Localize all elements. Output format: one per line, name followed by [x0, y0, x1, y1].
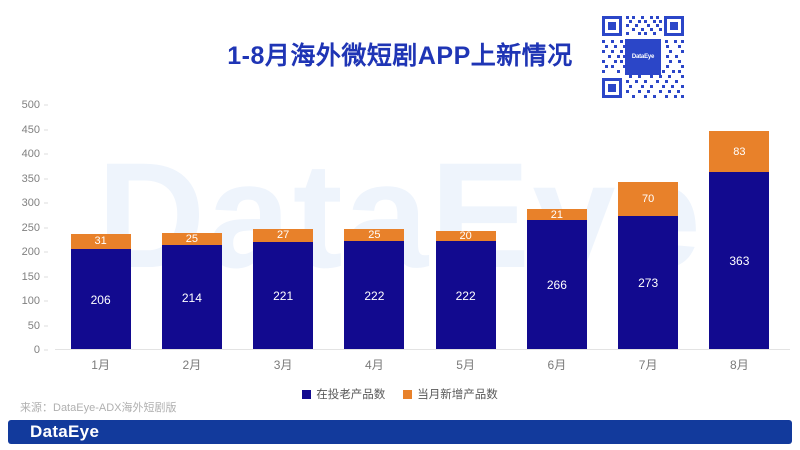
y-tick-mark	[44, 252, 48, 253]
y-tick-mark	[44, 203, 48, 204]
y-tick-mark	[44, 325, 48, 326]
bar-value-label: 221	[273, 289, 293, 303]
brand-logo: DataEye	[30, 422, 99, 442]
bar-segment-base[interactable]: 363	[709, 172, 769, 350]
legend-swatch	[403, 390, 412, 399]
bar-segment-base[interactable]: 221	[253, 242, 313, 350]
x-tick-label: 2月	[162, 356, 222, 373]
bar-value-label: 83	[733, 146, 745, 158]
bar-segment-top[interactable]: 83	[709, 131, 769, 172]
bar-group[interactable]: 26621	[527, 209, 587, 350]
source-note: 来源：DataEye-ADX海外短剧版	[20, 399, 176, 415]
legend-label: 当月新增产品数	[417, 386, 498, 402]
x-axis-baseline	[55, 349, 790, 350]
y-tick-mark	[44, 178, 48, 179]
y-tick-mark	[44, 154, 48, 155]
y-tick-label: 350	[22, 173, 40, 185]
x-tick-label: 6月	[527, 356, 587, 373]
bar-value-label: 27	[277, 229, 289, 241]
bar-value-label: 222	[456, 289, 476, 303]
bar-group[interactable]: 20631	[71, 234, 131, 350]
bar-segment-base[interactable]: 206	[71, 249, 131, 350]
bar-segment-base[interactable]: 214	[162, 245, 222, 350]
bar-segment-top[interactable]: 25	[162, 233, 222, 245]
y-tick-mark	[44, 227, 48, 228]
y-tick-mark	[44, 350, 48, 351]
bar-segment-top[interactable]: 25	[344, 229, 404, 241]
bar-value-label: 70	[642, 193, 654, 205]
legend-label: 在投老产品数	[316, 386, 385, 402]
bar-group[interactable]: 36383	[709, 131, 769, 350]
x-tick-label: 4月	[344, 356, 404, 373]
y-tick-label: 250	[22, 222, 40, 234]
footer-bar: DataEye	[8, 420, 792, 444]
y-tick-label: 200	[22, 246, 40, 258]
bar-group[interactable]: 21425	[162, 233, 222, 350]
bar-segment-top[interactable]: 21	[527, 209, 587, 219]
y-tick-mark	[44, 129, 48, 130]
bar-group[interactable]: 22225	[344, 229, 404, 350]
x-tick-label: 3月	[253, 356, 313, 373]
bar-segment-base[interactable]: 266	[527, 220, 587, 350]
y-tick-label: 400	[22, 148, 40, 160]
y-tick-label: 50	[28, 320, 40, 332]
x-axis: 1月2月3月4月5月6月7月8月	[55, 356, 785, 376]
bar-segment-base[interactable]: 273	[618, 216, 678, 350]
x-tick-label: 8月	[709, 356, 769, 373]
bar-value-label: 25	[368, 229, 380, 241]
y-tick-label: 0	[34, 344, 40, 356]
bar-value-label: 31	[95, 235, 107, 247]
bar-value-label: 21	[551, 209, 563, 221]
bar-segment-top[interactable]: 27	[253, 229, 313, 242]
y-tick-label: 450	[22, 124, 40, 136]
bar-value-label: 363	[729, 254, 749, 268]
x-tick-label: 5月	[436, 356, 496, 373]
y-tick-label: 150	[22, 271, 40, 283]
y-tick-mark	[44, 105, 48, 106]
bar-segment-top[interactable]: 70	[618, 182, 678, 216]
qr-center-logo: DataEye	[625, 39, 661, 75]
bar-value-label: 25	[186, 233, 198, 245]
y-axis: 050100150200250300350400450500	[0, 98, 48, 358]
bar-segment-top[interactable]: 31	[71, 234, 131, 249]
bar-group[interactable]: 27370	[618, 182, 678, 350]
qr-code[interactable]: DataEye	[598, 12, 688, 102]
legend-item[interactable]: 在投老产品数	[302, 386, 385, 402]
bar-segment-top[interactable]: 20	[436, 231, 496, 241]
bar-value-label: 20	[460, 230, 472, 242]
legend-item[interactable]: 当月新增产品数	[403, 386, 498, 402]
bar-value-label: 222	[364, 289, 384, 303]
bar-value-label: 273	[638, 276, 658, 290]
bar-segment-base[interactable]: 222	[344, 241, 404, 350]
bar-group[interactable]: 22220	[436, 231, 496, 350]
plot-area: 2063121425221272222522220266212737036383	[55, 105, 785, 350]
x-tick-label: 7月	[618, 356, 678, 373]
y-tick-mark	[44, 301, 48, 302]
bar-value-label: 266	[547, 278, 567, 292]
bar-value-label: 206	[91, 293, 111, 307]
y-tick-label: 100	[22, 295, 40, 307]
y-tick-mark	[44, 276, 48, 277]
y-tick-label: 500	[22, 99, 40, 111]
bar-group[interactable]: 22127	[253, 228, 313, 350]
bar-segment-base[interactable]: 222	[436, 241, 496, 350]
x-tick-label: 1月	[71, 356, 131, 373]
bar-value-label: 214	[182, 291, 202, 305]
y-tick-label: 300	[22, 197, 40, 209]
legend-swatch	[302, 390, 311, 399]
